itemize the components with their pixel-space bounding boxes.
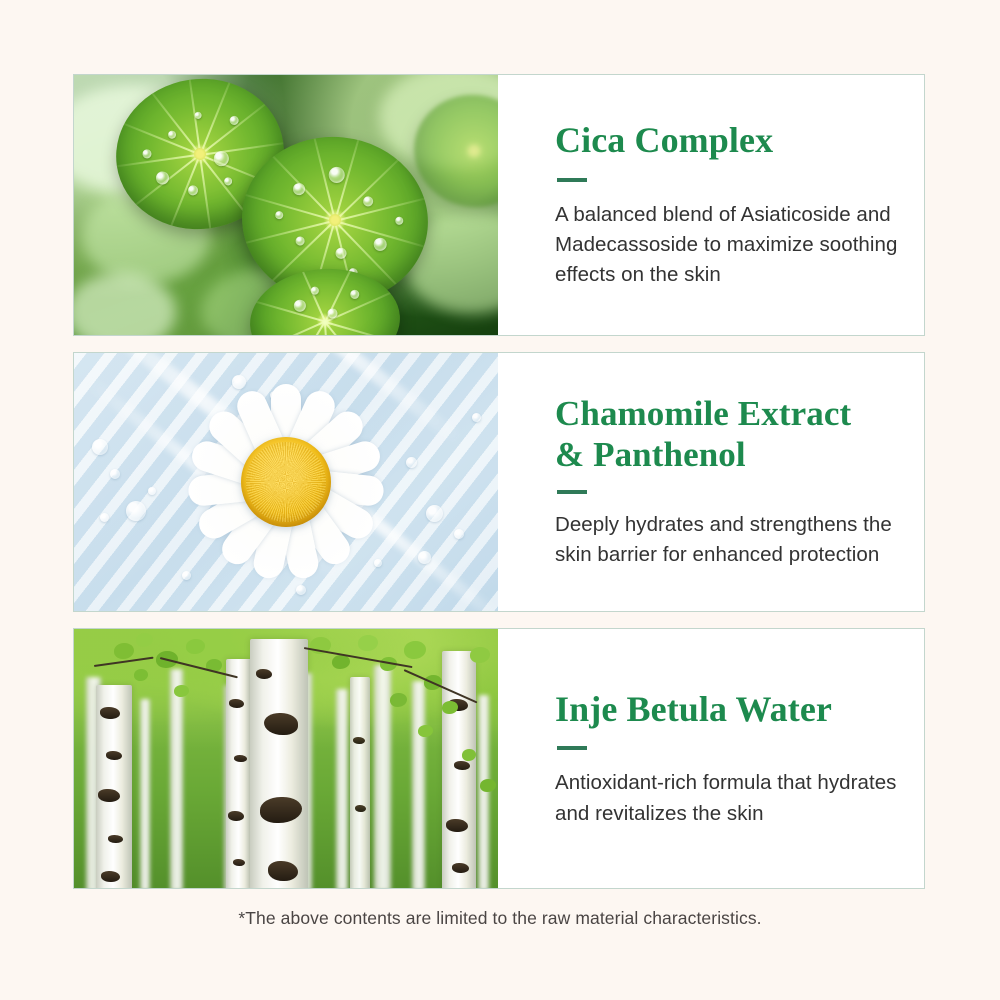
card-text-inje-betula-water: Inje Betula Water Antioxidant-rich formu… (498, 629, 924, 888)
ingredient-infographic: Cica Complex A balanced blend of Asiatic… (0, 0, 1000, 1000)
ingredient-card-list: Cica Complex A balanced blend of Asiatic… (73, 74, 925, 889)
forest-photo-backdrop (74, 629, 498, 888)
card-body-text: Deeply hydrates and strengthens the skin… (555, 510, 900, 571)
centella-asiatica-leaves-photo (74, 75, 498, 335)
card-heading: Cica Complex (555, 119, 900, 161)
footnote-disclaimer: *The above contents are limited to the r… (0, 908, 1000, 929)
heading-accent-rule (557, 490, 587, 494)
ingredient-card-chamomile-panthenol: Chamomile Extract& Panthenol Deeply hydr… (73, 352, 925, 612)
leaf-photo-backdrop (74, 75, 498, 335)
gel-photo-backdrop (74, 353, 498, 611)
heading-accent-rule (557, 178, 587, 182)
chamomile-flower (168, 364, 404, 600)
ingredient-card-cica-complex: Cica Complex A balanced blend of Asiatic… (73, 74, 925, 336)
heading-accent-rule (557, 746, 587, 750)
card-body-text: A balanced blend of Asiaticoside and Mad… (555, 200, 900, 291)
flower-center (241, 437, 331, 527)
card-text-chamomile-panthenol: Chamomile Extract& Panthenol Deeply hydr… (498, 353, 924, 611)
card-text-cica-complex: Cica Complex A balanced blend of Asiatic… (498, 75, 924, 335)
card-heading: Chamomile Extract& Panthenol (555, 394, 900, 476)
chamomile-flower-gel-photo (74, 353, 498, 611)
card-heading: Inje Betula Water (555, 688, 900, 730)
card-heading-line-1: Chamomile Extract (555, 394, 851, 433)
birch-forest-photo (74, 629, 498, 888)
card-body-text: Antioxidant-rich formula that hydrates a… (555, 768, 900, 829)
ingredient-card-inje-betula-water: Inje Betula Water Antioxidant-rich formu… (73, 628, 925, 889)
card-heading-line-2: & Panthenol (555, 435, 746, 474)
